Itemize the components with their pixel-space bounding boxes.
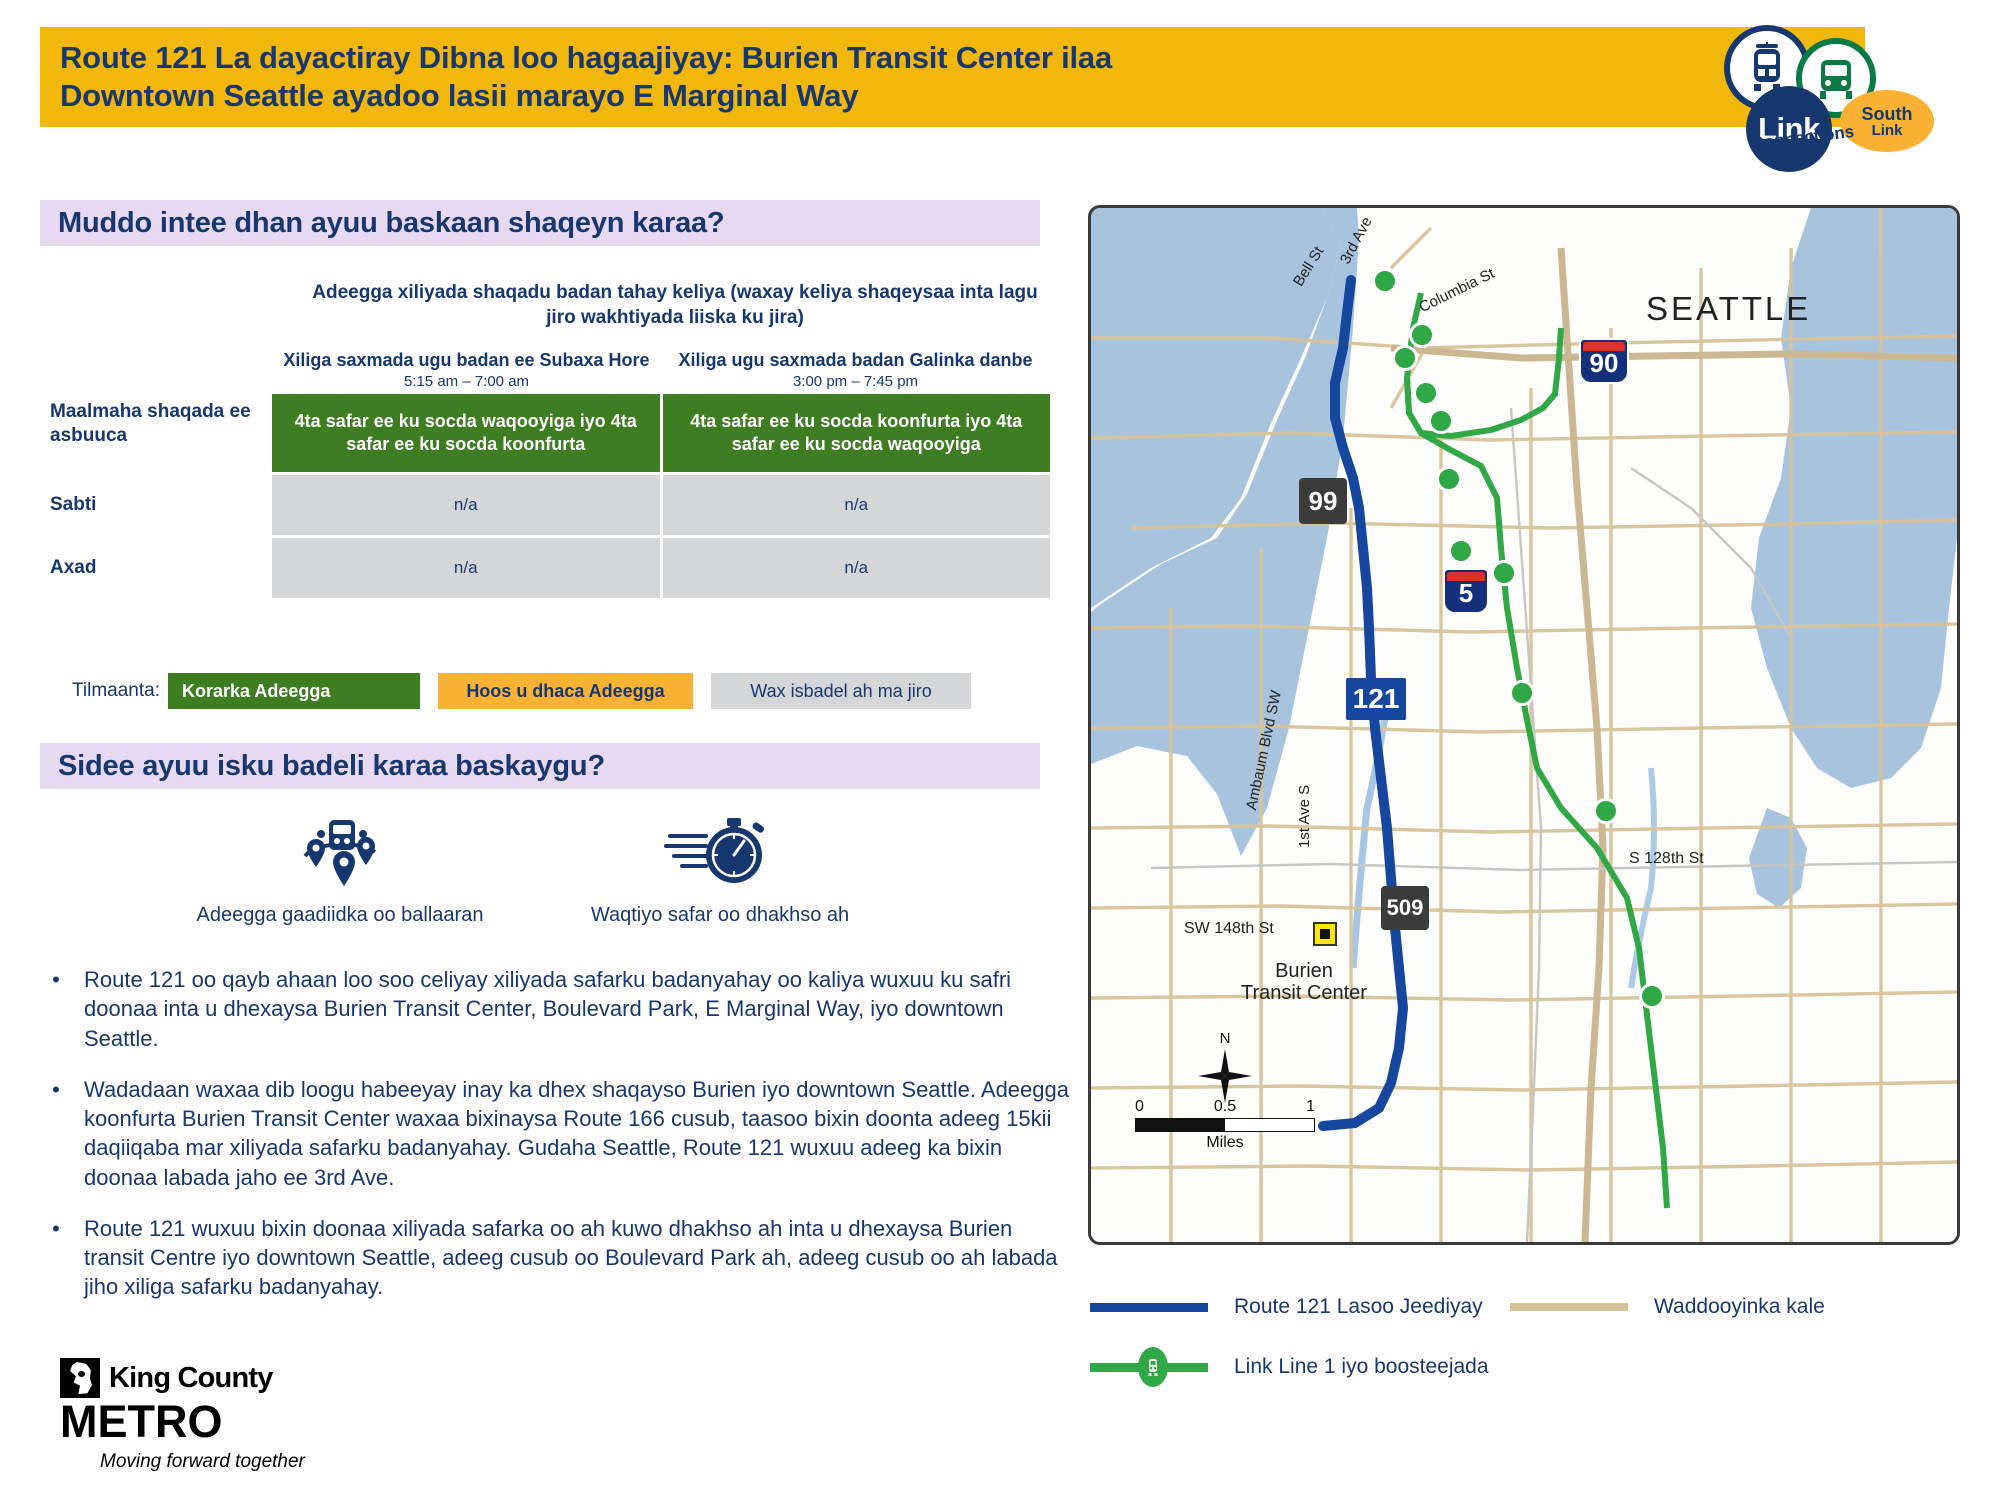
- benefit-label-faster-trips: Waqtiyo safar oo dhakhso ah: [591, 904, 849, 927]
- column-header-spacer: [50, 349, 272, 391]
- legend-item-other-roads: Waddooyinka kale: [1510, 1295, 1825, 1319]
- page-title-line2: Downtown Seattle ayadoo lasii marayo E M…: [60, 77, 1112, 115]
- row-label-saturday: Sabti: [50, 475, 272, 535]
- scale-mid: 0.5: [1214, 1098, 1236, 1116]
- route-shield-121: 121: [1346, 678, 1406, 720]
- cell-sunday-am: n/a: [272, 538, 660, 598]
- link-station-icon: [1138, 1347, 1168, 1387]
- cell-weekdays-am: 4ta safar ee ku socda waqooyiga iyo 4ta …: [272, 394, 660, 472]
- schedule-intro: Adeegga xiliyada shaqadu badan tahay kel…: [310, 280, 1040, 331]
- legend-chip-increase: Korarka Adeegga: [168, 673, 420, 709]
- benefit-label-broader-service: Adeegga gaadiidka oo ballaaran: [197, 904, 484, 927]
- benefit-broader-service: Adeegga gaadiidka oo ballaaran: [150, 808, 530, 927]
- list-item: • Wadadaan waxaa dib loogu habeeyay inay…: [28, 1075, 1073, 1192]
- blue-line-icon: [1090, 1303, 1208, 1312]
- interstate-shield-90: 90: [1579, 338, 1629, 384]
- map-legend-row-1: Route 121 Lasoo Jeediyay Waddooyinka kal…: [1090, 1295, 1970, 1319]
- bullet-marker: •: [28, 1075, 84, 1192]
- compass-north-label: N: [1190, 1030, 1260, 1047]
- page-title: Route 121 La dayactiray Dibna loo hagaaj…: [40, 39, 1112, 115]
- row-label-sunday: Axad: [50, 538, 272, 598]
- schedule-column-headers: Xiliga saxmada ugu badan ee Subaxa Hore …: [50, 349, 1050, 391]
- list-item: • Route 121 wuxuu bixin doonaa xiliyada …: [28, 1214, 1073, 1302]
- column-header-am-peak-time: 5:15 am – 7:00 am: [272, 373, 661, 390]
- link-station-marker: [1593, 798, 1619, 824]
- link-station-marker: [1491, 560, 1517, 586]
- service-change-legend: Tilmaanta: Korarka Adeegga Hoos u dhaca …: [72, 673, 971, 709]
- legend-label-route-121: Route 121 Lasoo Jeediyay: [1234, 1295, 1483, 1319]
- tan-line-icon: [1510, 1303, 1628, 1311]
- link-station-marker: [1509, 680, 1535, 706]
- route-shield-509-label: 509: [1387, 895, 1424, 921]
- bullet-list: • Route 121 oo qayb ahaan loo soo celiya…: [28, 965, 1073, 1324]
- link-station-marker: [1639, 983, 1665, 1009]
- link-station-marker: [1436, 466, 1462, 492]
- route-shield-99: 99: [1299, 478, 1347, 524]
- flyer-page: Route 121 La dayactiray Dibna loo hagaaj…: [0, 0, 2000, 1500]
- kcm-logo-top: King County: [60, 1358, 390, 1398]
- link-station-marker: [1392, 345, 1418, 371]
- cell-saturday-am: n/a: [272, 475, 660, 535]
- link-station-marker: [1428, 408, 1454, 434]
- legend-chip-decrease: Hoos u dhaca Adeegga: [438, 673, 693, 709]
- metro-tagline: Moving forward together: [100, 1451, 390, 1473]
- legend-label-other-roads: Waddooyinka kale: [1654, 1295, 1825, 1319]
- column-header-am-peak-title: Xiliga saxmada ugu badan ee Subaxa Hore: [272, 349, 661, 372]
- cell-sunday-pm: n/a: [660, 538, 1051, 598]
- south-link-label-1: South: [1862, 105, 1913, 123]
- green-line-icon: [1090, 1363, 1208, 1372]
- table-row: Maalmaha shaqada ee asbuuca 4ta safar ee…: [50, 394, 1050, 472]
- map-legend-row-2: Link Line 1 iyo boosteejada: [1090, 1355, 1970, 1379]
- section-heading-benefits-text: Sidee ayuu isku badeli karaa baskaygu?: [40, 750, 605, 783]
- legend-chip-nochange: Wax isbadel ah ma jiro: [711, 673, 971, 709]
- scale-numbers: 0 0.5 1: [1135, 1098, 1315, 1116]
- scale-max: 1: [1306, 1098, 1315, 1116]
- column-header-pm-peak: Xiliga ugu saxmada badan Galinka danbe 3…: [661, 349, 1050, 391]
- king-county-face-icon: [60, 1358, 100, 1398]
- page-title-line1: Route 121 La dayactiray Dibna loo hagaaj…: [60, 39, 1112, 77]
- column-header-pm-peak-time: 3:00 pm – 7:45 pm: [661, 373, 1050, 390]
- bullet-marker: •: [28, 965, 84, 1053]
- interstate-shield-5-label: 5: [1459, 578, 1473, 612]
- cell-weekdays-pm: 4ta safar ee ku socda koonfurta iyo 4ta …: [660, 394, 1051, 472]
- section-heading-schedule-text: Muddo intee dhan ayuu baskaan shaqeyn ka…: [40, 207, 724, 240]
- map-scale-bar: 0 0.5 1 Miles: [1135, 1098, 1315, 1152]
- table-row: Sabti n/a n/a: [50, 475, 1050, 535]
- interstate-shield-5: 5: [1443, 568, 1489, 614]
- scale-unit-label: Miles: [1135, 1134, 1315, 1152]
- benefits-row: Adeegga gaadiidka oo ballaaran: [150, 808, 910, 927]
- column-header-pm-peak-title: Xiliga ugu saxmada badan Galinka danbe: [661, 349, 1050, 372]
- bullet-text-3: Route 121 wuxuu bixin doonaa xiliyada sa…: [84, 1214, 1073, 1302]
- cell-saturday-pm: n/a: [660, 475, 1051, 535]
- link-station-marker: [1413, 380, 1439, 406]
- south-link-label-2: Link: [1872, 123, 1903, 138]
- list-item: • Route 121 oo qayb ahaan loo soo celiya…: [28, 965, 1073, 1053]
- bullet-text-2: Wadadaan waxaa dib loogu habeeyay inay k…: [84, 1075, 1073, 1192]
- legend-item-route-121: Route 121 Lasoo Jeediyay: [1090, 1295, 1510, 1319]
- scale-min: 0: [1135, 1098, 1144, 1116]
- row-label-weekdays: Maalmaha shaqada ee asbuuca: [50, 394, 272, 472]
- legend-label-link-line: Link Line 1 iyo boosteejada: [1234, 1355, 1489, 1379]
- link-station-marker: [1409, 322, 1435, 348]
- route-shield-509: 509: [1381, 886, 1429, 930]
- legend-label: Tilmaanta:: [72, 680, 160, 702]
- section-heading-schedule: Muddo intee dhan ayuu baskaan shaqeyn ka…: [40, 200, 1040, 246]
- scale-bar-graphic: [1135, 1118, 1315, 1132]
- route-shield-99-label: 99: [1309, 486, 1338, 517]
- stopwatch-speed-icon: [662, 808, 778, 894]
- bullet-marker: •: [28, 1214, 84, 1302]
- king-county-metro-logo: King County METRO Moving forward togethe…: [60, 1358, 390, 1473]
- interstate-shield-90-label: 90: [1590, 348, 1619, 382]
- route-shield-121-label: 121: [1353, 683, 1400, 715]
- map-legend: Route 121 Lasoo Jeediyay Waddooyinka kal…: [1090, 1295, 1970, 1415]
- transit-center-marker: [1313, 922, 1337, 946]
- link-station-marker: [1448, 538, 1474, 564]
- metro-label: METRO: [60, 1396, 390, 1448]
- link-connections-logo: South Link Link Connections: [1710, 10, 1960, 160]
- compass-icon: [1196, 1047, 1254, 1105]
- schedule-table: Adeegga xiliyada shaqadu badan tahay kel…: [50, 280, 1050, 598]
- legend-item-link-line: Link Line 1 iyo boosteejada: [1090, 1355, 1489, 1379]
- link-station-marker: [1372, 268, 1398, 294]
- king-county-label: King County: [109, 1362, 273, 1395]
- table-row: Axad n/a n/a: [50, 538, 1050, 598]
- column-header-am-peak: Xiliga saxmada ugu badan ee Subaxa Hore …: [272, 349, 661, 391]
- section-heading-benefits: Sidee ayuu isku badeli karaa baskaygu?: [40, 743, 1040, 789]
- bus-map-pins-icon: [285, 808, 395, 894]
- bullet-text-1: Route 121 oo qayb ahaan loo soo celiyay …: [84, 965, 1073, 1053]
- title-banner: Route 121 La dayactiray Dibna loo hagaaj…: [40, 27, 1865, 127]
- benefit-faster-trips: Waqtiyo safar oo dhakhso ah: [530, 808, 910, 927]
